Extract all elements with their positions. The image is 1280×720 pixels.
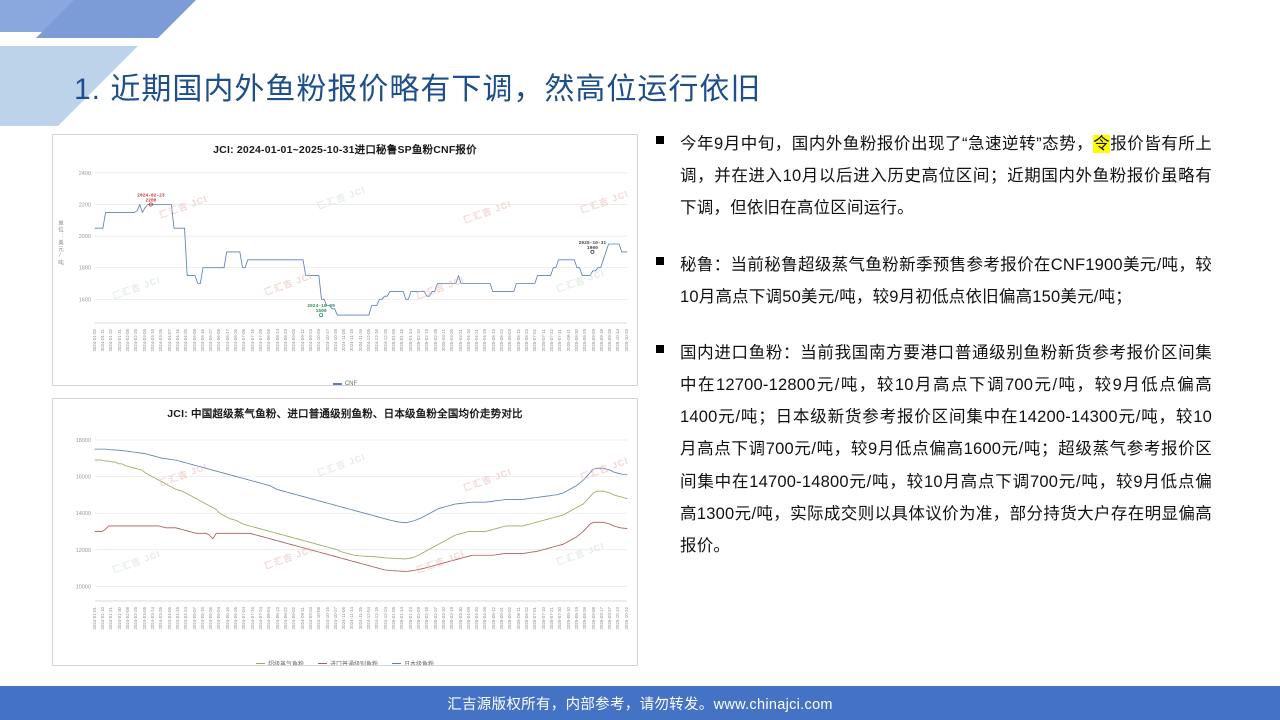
x-tick-label: 2025-02-28	[434, 329, 438, 351]
bullet-text: 国内进口鱼粉：当前我国南方要港口普通级别鱼粉新货参考报价区间集中在12700-1…	[680, 337, 1212, 562]
x-tick-label: 2025-10-13	[616, 607, 620, 629]
x-tick-label: 2025-01-06	[392, 329, 396, 351]
footer-bar: 汇吉源版权所有，内部参考，请勿转发。www.chinajci.com	[0, 686, 1280, 720]
x-tick-label: 2025-04-10	[467, 329, 471, 351]
x-tick-label: 2024-03-25	[159, 607, 163, 629]
bullet-square-icon	[656, 345, 664, 353]
bullet-item: 今年9月中旬，国内外鱼粉报价出现了“急速逆转”态势，令报价皆有所上调，并在进入1…	[656, 128, 1212, 225]
x-tick-label: 2025-08-29	[583, 329, 587, 351]
bullet-item: 国内进口鱼粉：当前我国南方要港口普通级别鱼粉新货参考报价区间集中在12700-1…	[656, 337, 1212, 562]
chart2-title: JCI: 中国超级蒸气鱼粉、进口普通级别鱼粉、日本级鱼粉全国均价走势对比	[53, 406, 637, 421]
legend-label: 超级蒸气鱼粉	[268, 659, 304, 666]
x-tick-label: 2025-04-28	[483, 607, 487, 629]
deco-parallelogram-2	[36, 0, 242, 38]
x-tick-label: 2024-06-25	[234, 607, 238, 629]
x-tick-label: 2024-05-15	[201, 607, 205, 629]
x-tick-label: 2025-08-19	[575, 607, 579, 629]
x-tick-label: 2024-07-25	[259, 329, 263, 351]
x-tick-label: 2024-11-25	[359, 607, 363, 629]
x-tick-label: 2024-09-12	[301, 329, 305, 351]
chart1-title: JCI: 2024-01-01~2025-10-31进口秘鲁SP鱼粉CNF报价	[53, 142, 637, 157]
x-tick-label: 2024-05-26	[209, 607, 213, 629]
bullet-text: 秘鲁：当前秘鲁超级蒸气鱼粉新季预售参考报价在CNF1900美元/吨，较10月高点…	[680, 249, 1212, 313]
legend-item: 超级蒸气鱼粉	[256, 659, 304, 666]
x-tick-label: 2025-10-22	[625, 607, 629, 629]
x-tick-label: 2024-05-27	[209, 329, 213, 351]
x-tick-label: 2025-02-09	[417, 607, 421, 629]
x-tick-label: 2025-09-18	[600, 329, 604, 351]
x-tick-label: 2024-03-14	[151, 607, 155, 629]
x-tick-label: 2024-06-04	[217, 607, 221, 629]
x-tick-label: 2025-06-12	[517, 329, 521, 351]
legend-item: CNF	[333, 381, 357, 386]
x-tick-label: 2025-06-03	[508, 329, 512, 351]
x-tick-label: 2025-07-01	[533, 607, 537, 629]
x-tick-label: 2024-04-06	[168, 607, 172, 629]
x-tick-label: 2025-07-30	[558, 607, 562, 629]
x-tick-label: 2024-08-04	[267, 607, 271, 629]
legend-swatch-icon	[333, 383, 342, 385]
x-tick-label: 2024-10-09	[317, 329, 321, 351]
x-tick-label: 2024-02-08	[126, 329, 130, 351]
x-tick-label: 2024-08-22	[284, 607, 288, 629]
x-tick-label: 2024-12-15	[375, 607, 379, 629]
x-tick-label: 2025-09-17	[600, 607, 604, 629]
x-tick-label: 2024-10-17	[326, 329, 330, 351]
x-tick-label: 2024-01-22	[109, 329, 113, 351]
x-tick-label: 2024-08-23	[284, 329, 288, 351]
chart1-ytick: 2200	[79, 203, 91, 209]
x-tick-label: 2024-07-15	[251, 607, 255, 629]
x-tick-label: 2025-03-30	[459, 607, 463, 629]
x-tick-label: 2024-10-16	[326, 607, 330, 629]
x-tick-label: 2025-02-19	[425, 329, 429, 351]
x-tick-label: 2025-04-29	[483, 329, 487, 351]
x-tick-label: 2025-01-15	[400, 329, 404, 351]
legend-swatch-icon	[256, 663, 265, 665]
x-tick-label: 2024-06-16	[226, 607, 230, 629]
chart-card-comparison: JCI: 中国超级蒸气鱼粉、进口普通级别鱼粉、日本级鱼粉全国均价走势对比 100…	[52, 398, 638, 666]
x-tick-label: 2024-03-06	[143, 329, 147, 351]
x-tick-label: 2024-10-28	[334, 329, 338, 351]
x-tick-label: 2025-03-31	[459, 329, 463, 351]
x-tick-label: 2024-05-08	[193, 329, 197, 351]
x-tick-label: 2025-03-10	[442, 607, 446, 629]
x-tick-label: 2025-07-02	[533, 329, 537, 351]
chart1-x-axis-ticks: 2024-01-022024-01-112024-01-222024-01-31…	[53, 329, 637, 379]
footer-text: 汇吉源版权所有，内部参考，请勿转发。www.chinajci.com	[447, 693, 833, 714]
x-tick-label: 2024-07-05	[242, 329, 246, 351]
x-tick-label: 2025-06-11	[517, 607, 521, 629]
x-tick-label: 2024-07-04	[242, 607, 246, 629]
chart1-ytick: 1600	[79, 297, 91, 303]
bullet-square-icon	[656, 257, 664, 265]
x-tick-label: 2024-04-24	[184, 607, 188, 629]
x-tick-label: 2024-06-26	[234, 329, 238, 351]
x-tick-label: 2024-09-23	[309, 607, 313, 629]
chart2-plot-area: 1000012000140001600018000匚汇吉 JCI匚汇吉 JCI匚…	[53, 421, 637, 607]
chart1-series-line	[95, 205, 627, 316]
x-tick-label: 2024-01-11	[101, 329, 105, 351]
x-tick-label: 2024-08-13	[276, 607, 280, 629]
chart1-annotation-value: 2200	[145, 198, 156, 204]
page-title: 1. 近期国内外鱼粉报价略有下调，然高位运行依旧	[74, 64, 761, 108]
x-tick-label: 2025-06-23	[525, 329, 529, 351]
chart2-ytick: 12000	[76, 548, 91, 554]
x-tick-label: 2025-08-10	[567, 607, 571, 629]
x-tick-label: 2024-12-04	[367, 607, 371, 629]
x-tick-label: 2025-04-09	[467, 607, 471, 629]
bullet-text-pre: 今年9月中旬，国内外鱼粉报价出现了“急速逆转”态势，	[680, 135, 1093, 153]
chart2-ytick: 10000	[76, 584, 91, 590]
x-tick-label: 2025-07-31	[558, 329, 562, 351]
x-tick-label: 2024-01-02	[93, 329, 97, 351]
x-tick-label: 2024-02-08	[126, 607, 130, 629]
x-tick-label: 2024-01-21	[109, 607, 113, 629]
chart1-ytick: 2400	[79, 171, 91, 177]
x-tick-label: 2024-09-24	[309, 329, 313, 351]
x-tick-label: 2024-09-03	[292, 329, 296, 351]
x-tick-label: 2024-11-15	[350, 329, 354, 351]
legend-swatch-icon	[318, 663, 327, 665]
x-tick-label: 2024-05-16	[201, 329, 205, 351]
x-tick-label: 2025-01-14	[400, 607, 404, 629]
x-tick-label: 2025-04-21	[475, 329, 479, 351]
chart2-series-line	[95, 522, 627, 571]
chart2-series-line	[95, 460, 627, 559]
bullet-square-icon	[656, 136, 664, 144]
x-tick-label: 2025-09-09	[592, 329, 596, 351]
chart1-ytick: 2000	[79, 234, 91, 240]
x-tick-label: 2024-02-25	[134, 607, 138, 629]
x-tick-label: 2025-09-27	[608, 607, 612, 629]
x-tick-label: 2025-10-14	[616, 329, 620, 351]
x-tick-label: 2024-04-15	[176, 607, 180, 629]
chart1-annotation-value: 1500	[316, 308, 327, 314]
x-tick-label: 2024-10-27	[334, 607, 338, 629]
bullet-text-pre: 秘鲁：当前秘鲁超级蒸气鱼粉新季预售参考报价在CNF1900美元/吨，较10月高点…	[680, 256, 1212, 306]
x-tick-label: 2025-03-20	[450, 329, 454, 351]
bullet-list: 今年9月中旬，国内外鱼粉报价出现了“急速逆转”态势，令报价皆有所上调，并在进入1…	[656, 128, 1212, 586]
x-tick-label: 2025-07-21	[550, 607, 554, 629]
legend-swatch-icon	[392, 663, 401, 665]
chart2-ytick: 14000	[76, 511, 91, 517]
x-tick-label: 2025-03-11	[442, 329, 446, 351]
x-tick-label: 2024-06-05	[217, 329, 221, 351]
chart1-ytick: 1800	[79, 266, 91, 272]
x-tick-label: 2024-03-15	[151, 329, 155, 351]
x-tick-label: 2024-06-17	[226, 329, 230, 351]
x-tick-label: 2025-09-08	[592, 607, 596, 629]
x-tick-label: 2024-07-16	[251, 329, 255, 351]
x-tick-label: 2025-07-11	[542, 329, 546, 351]
x-tick-label: 2024-04-16	[176, 329, 180, 351]
chart2-legend: 超级蒸气鱼粉进口普通级别鱼粉日本级鱼粉	[53, 659, 637, 666]
chart1-plot-area: 单位：美元/吨 160018002000220024002024-02-2322…	[53, 157, 637, 329]
x-tick-label: 2024-02-26	[134, 329, 138, 351]
x-tick-label: 2025-06-22	[525, 607, 529, 629]
x-tick-label: 2024-01-10	[101, 607, 105, 629]
x-tick-label: 2024-09-11	[301, 607, 305, 629]
deco-parallelogram-1	[0, 0, 127, 32]
x-tick-label: 2025-08-20	[575, 329, 579, 351]
bullet-item: 秘鲁：当前秘鲁超级蒸气鱼粉新季预售参考报价在CNF1900美元/吨，较10月高点…	[656, 249, 1212, 313]
x-tick-label: 2025-04-20	[475, 607, 479, 629]
x-tick-label: 2024-12-16	[375, 329, 379, 351]
x-tick-label: 2025-08-28	[583, 607, 587, 629]
x-tick-label: 2025-05-12	[492, 607, 496, 629]
x-tick-label: 2024-05-07	[193, 607, 197, 629]
chart1-y-axis-label: 单位：美元/吨	[56, 220, 64, 266]
chart2-series-line	[95, 449, 627, 523]
bullet-highlight: 令	[1093, 135, 1110, 153]
bullet-text-pre: 国内进口鱼粉：当前我国南方要港口普通级别鱼粉新货参考报价区间集中在12700-1…	[680, 344, 1212, 555]
bullet-text: 今年9月中旬，国内外鱼粉报价出现了“急速逆转”态势，令报价皆有所上调，并在进入1…	[680, 128, 1212, 225]
chart2-ytick: 18000	[76, 438, 91, 444]
chart-card-cnf: JCI: 2024-01-01~2025-10-31进口秘鲁SP鱼粉CNF报价 …	[52, 134, 638, 386]
legend-label: 进口普通级别鱼粉	[330, 659, 378, 666]
x-tick-label: 2025-01-23	[409, 607, 413, 629]
x-tick-label: 2025-02-18	[425, 607, 429, 629]
x-tick-label: 2025-10-23	[625, 329, 629, 351]
x-tick-label: 2024-10-08	[317, 607, 321, 629]
x-tick-label: 2025-05-13	[492, 329, 496, 351]
x-tick-label: 2024-03-05	[143, 607, 147, 629]
chart1-annotation-value: 1900	[587, 245, 598, 251]
x-tick-label: 2024-12-24	[384, 607, 388, 629]
x-tick-label: 2025-02-10	[417, 329, 421, 351]
legend-item: 进口普通级别鱼粉	[318, 659, 378, 666]
x-tick-label: 2024-12-05	[367, 329, 371, 351]
x-tick-label: 2025-03-19	[450, 607, 454, 629]
legend-label: 日本级鱼粉	[404, 659, 434, 666]
x-tick-label: 2025-05-21	[500, 607, 504, 629]
x-tick-label: 2024-01-01	[93, 607, 97, 629]
x-tick-label: 2024-12-25	[384, 329, 388, 351]
x-tick-label: 2025-01-05	[392, 607, 396, 629]
x-tick-label: 2024-09-02	[292, 607, 296, 629]
legend-label: CNF	[345, 381, 357, 386]
chart2-x-axis-ticks: 2024-01-012024-01-102024-01-212024-01-30…	[53, 607, 637, 657]
x-tick-label: 2024-04-07	[168, 329, 172, 351]
x-tick-label: 2024-04-25	[184, 329, 188, 351]
chart2-ytick: 16000	[76, 475, 91, 481]
x-tick-label: 2025-07-10	[542, 607, 546, 629]
x-tick-label: 2025-01-24	[409, 329, 413, 351]
chart1-svg: 160018002000220024002024-02-2322002024-1…	[53, 157, 637, 329]
x-tick-label: 2024-08-14	[276, 329, 280, 351]
x-tick-label: 2024-08-05	[267, 329, 271, 351]
chart2-svg: 1000012000140001600018000	[53, 421, 637, 607]
x-tick-label: 2024-11-14	[350, 607, 354, 629]
x-tick-label: 2024-01-30	[118, 607, 122, 629]
x-tick-label: 2024-11-06	[342, 329, 346, 351]
legend-item: 日本级鱼粉	[392, 659, 434, 666]
x-tick-label: 2024-01-31	[118, 329, 122, 351]
x-tick-label: 2024-07-24	[259, 607, 263, 629]
x-tick-label: 2025-08-11	[567, 329, 571, 351]
x-tick-label: 2025-02-27	[434, 607, 438, 629]
x-tick-label: 2025-09-28	[608, 329, 612, 351]
x-tick-label: 2024-11-26	[359, 329, 363, 351]
x-tick-label: 2025-07-22	[550, 329, 554, 351]
chart1-legend: CNF	[53, 381, 637, 386]
x-tick-label: 2024-11-05	[342, 607, 346, 629]
x-tick-label: 2025-05-22	[500, 329, 504, 351]
x-tick-label: 2025-06-02	[508, 607, 512, 629]
x-tick-label: 2024-03-26	[159, 329, 163, 351]
